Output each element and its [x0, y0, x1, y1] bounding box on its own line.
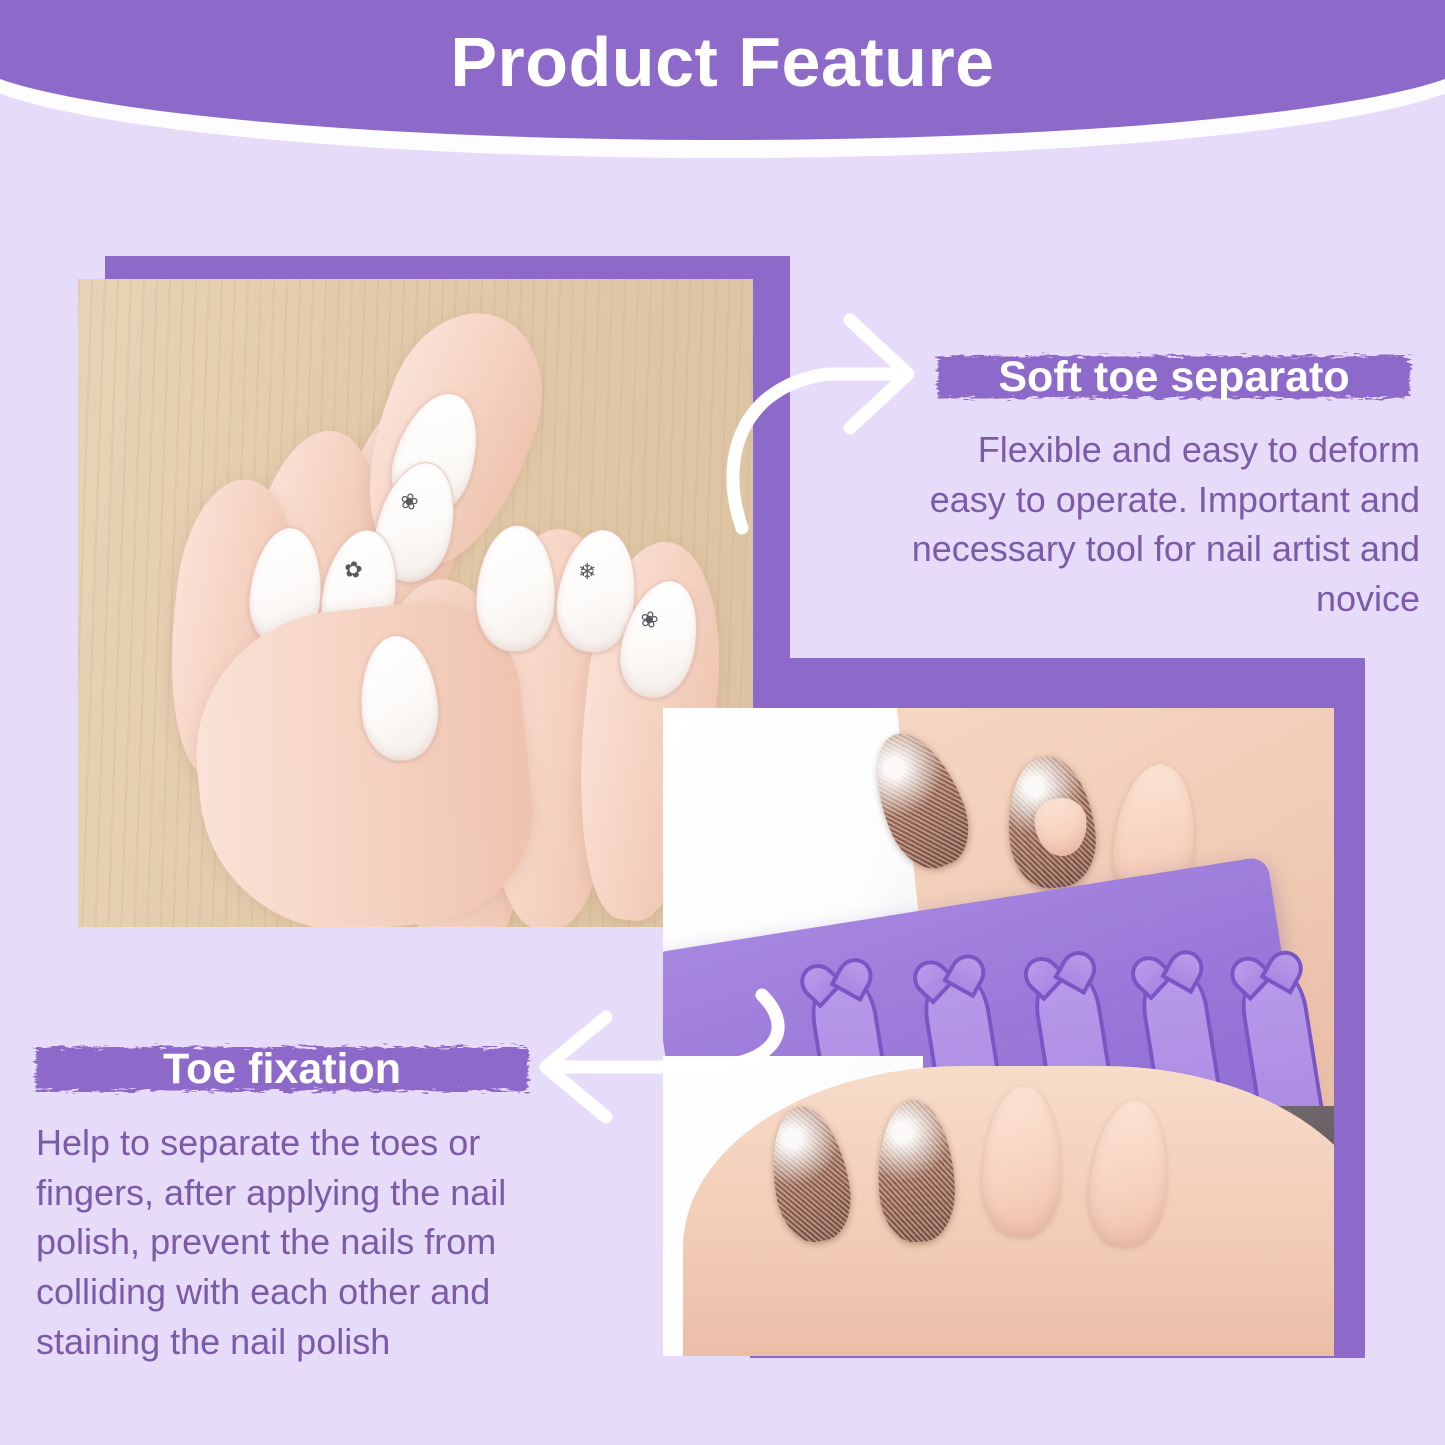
feature-heading-label: Toe fixation [163, 1045, 401, 1094]
feature-heading-toe-fixation: Toe fixation [24, 1038, 540, 1100]
floral-nail-art: ✿ [343, 558, 364, 582]
feature-body-soft-toe-separator: Flexible and easy to deform easy to oper… [905, 425, 1420, 624]
feature-heading-label: Soft toe separato [998, 353, 1349, 402]
feature-heading-soft-toe-separator: Soft toe separato [928, 348, 1420, 406]
photo-toe-separator [663, 708, 1334, 1356]
floral-nail-art: ❄ [578, 561, 596, 583]
heart-cutout-icon [1227, 942, 1305, 997]
feature-body-toe-fixation: Help to separate the toes or fingers, af… [36, 1118, 564, 1366]
heart-cutout-icon [1128, 942, 1206, 997]
heart-cutout-icon [797, 949, 875, 1004]
heart-cutout-icon [910, 946, 988, 1001]
heart-cutout-icon [1021, 942, 1099, 997]
product-feature-infographic: Product Feature ❀ ✿ ❄ ❀ [0, 0, 1445, 1445]
page-title: Product Feature [0, 22, 1445, 102]
photo-white-nails: ❀ ✿ ❄ ❀ [78, 279, 753, 927]
